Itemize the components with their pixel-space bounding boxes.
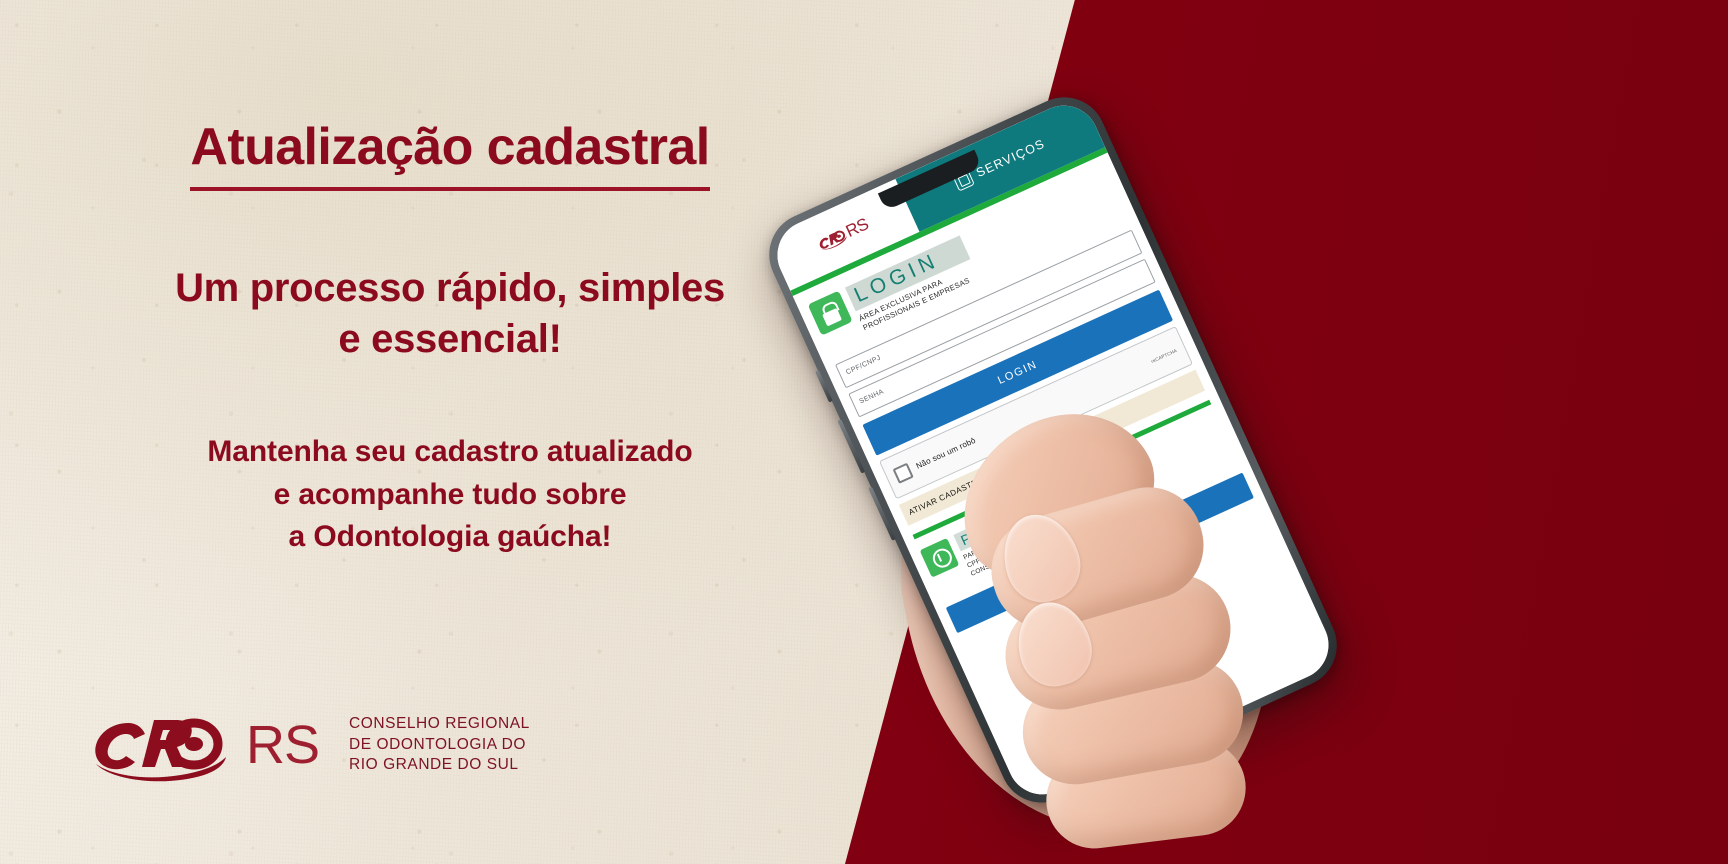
logo-rs-text: RS — [246, 718, 319, 772]
nav-servicos-label: SERVIÇOS — [974, 137, 1047, 180]
subheadline-line-2: e essencial! — [60, 314, 840, 365]
body-copy-line-1: Mantenha seu cadastro atualizado — [60, 431, 840, 474]
page-title: Atualização cadastral — [190, 120, 709, 191]
user-add-icon — [919, 538, 959, 578]
body-copy-line-3: a Odontologia gaúcha! — [60, 516, 840, 559]
cro-rs-logo: RS CONSELHO REGIONAL DE ODONTOLOGIA DO R… — [88, 708, 530, 782]
logo-divider — [333, 714, 335, 776]
body-copy-line-2: e acompanhe tudo sobre — [60, 474, 840, 517]
recaptcha-checkbox[interactable] — [892, 462, 913, 483]
recaptcha-branding: reCAPTCHA — [1149, 344, 1178, 365]
promo-banner: Atualização cadastral Um processo rápido… — [0, 0, 1728, 864]
subheadline: Um processo rápido, simples e essencial! — [60, 263, 840, 365]
hand-holding-phone: RS SERVIÇOS LOGIN ÁREA EXCLUSIV — [760, 90, 1520, 864]
body-copy: Mantenha seu cadastro atualizado e acomp… — [60, 431, 840, 559]
recaptcha-brand-text: reCAPTCHA — [1150, 348, 1177, 364]
cro-monogram-icon — [88, 708, 236, 782]
subheadline-line-1: Um processo rápido, simples — [60, 263, 840, 314]
lock-icon — [808, 291, 853, 336]
organization-name: CONSELHO REGIONAL DE ODONTOLOGIA DO RIO … — [349, 714, 530, 776]
